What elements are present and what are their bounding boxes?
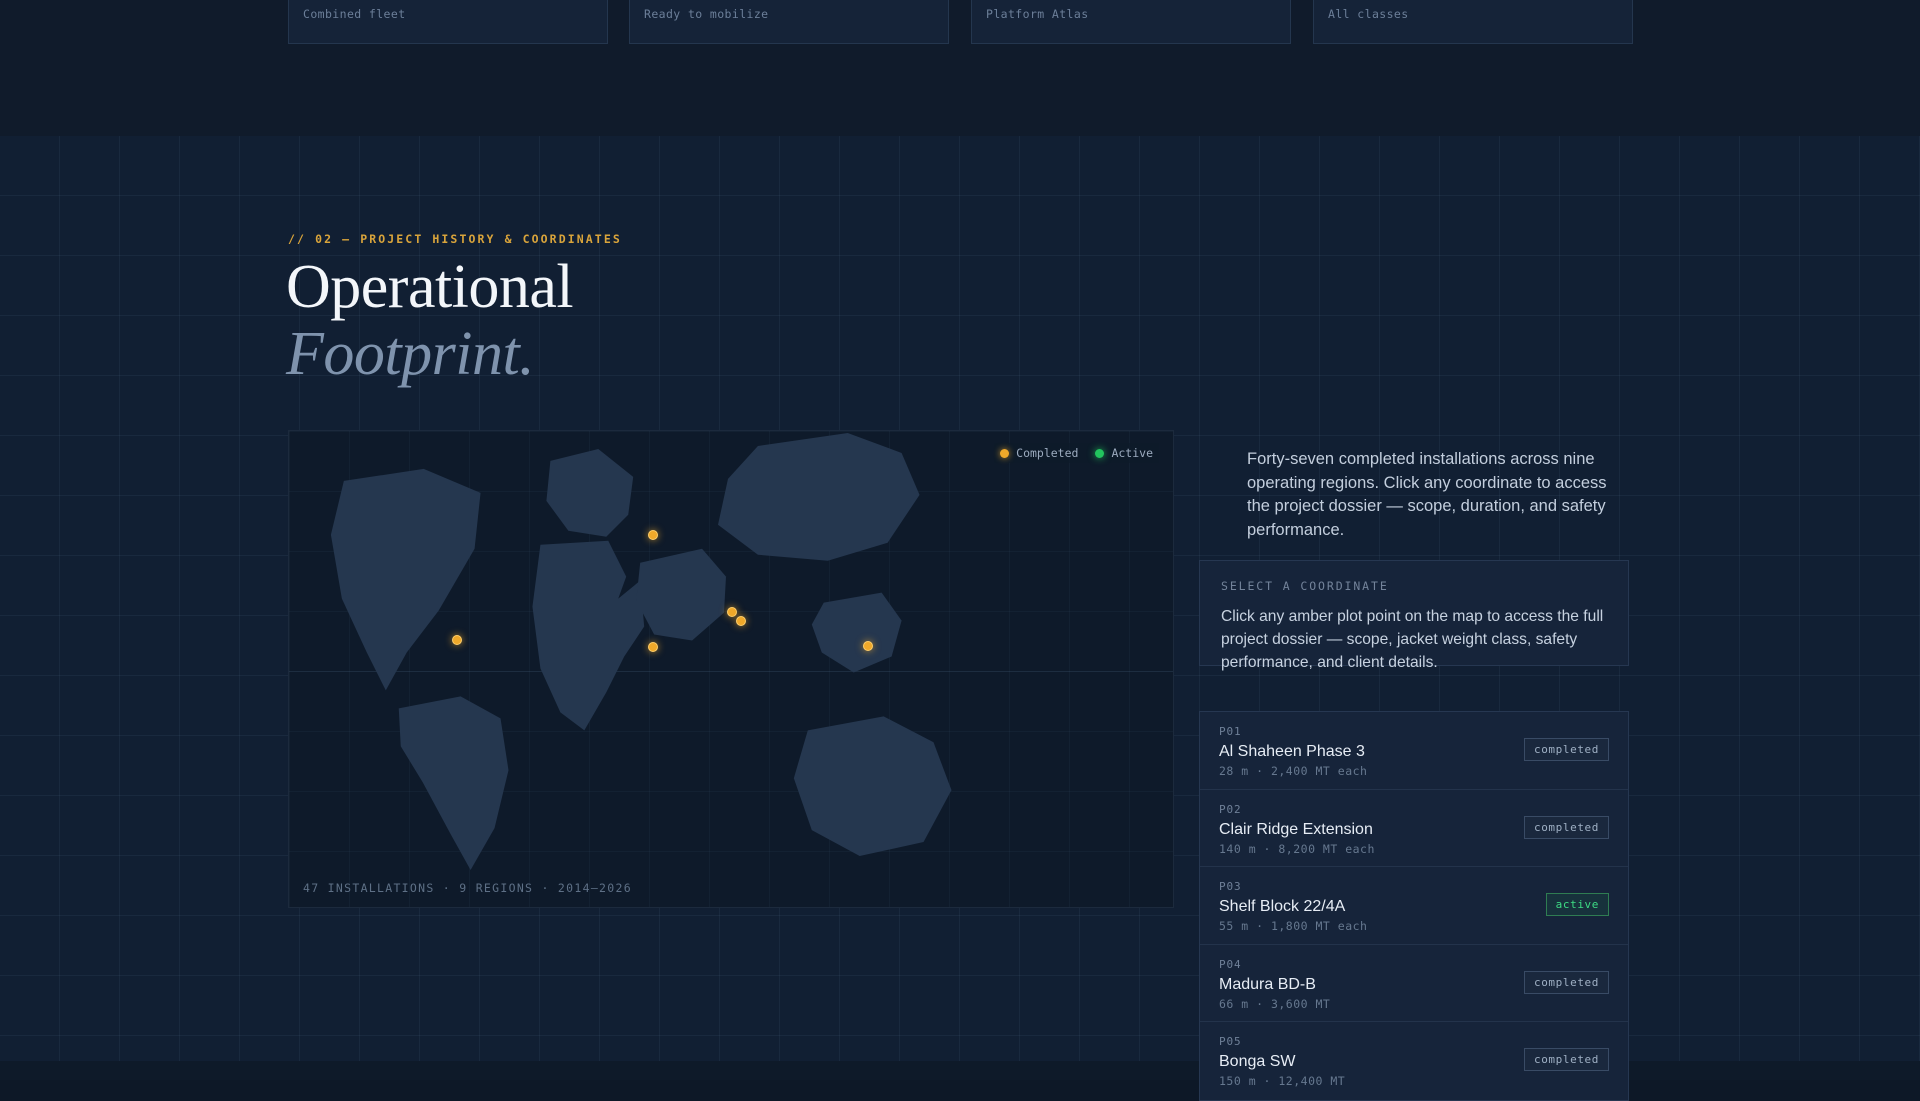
project-code: P01 xyxy=(1219,725,1609,738)
list-item[interactable]: P02 Clair Ridge Extension 140 m · 8,200 … xyxy=(1200,790,1628,868)
map-landmasses xyxy=(289,431,1173,908)
legend-label-active: Active xyxy=(1111,446,1153,460)
section-intro-text: Forty-seven completed installations acro… xyxy=(1247,448,1629,542)
stat-card[interactable]: Ready to mobilize xyxy=(629,0,949,44)
operations-map[interactable]: Completed Active 47 INSTALLATIONS · 9 RE… xyxy=(288,430,1174,908)
headline-line-1: Operational xyxy=(286,253,573,321)
stat-card[interactable]: All classes xyxy=(1313,0,1633,44)
stat-card[interactable]: Combined fleet xyxy=(288,0,608,44)
project-code: P03 xyxy=(1219,880,1609,893)
status-badge: completed xyxy=(1524,816,1609,839)
project-meta: 140 m · 8,200 MT each xyxy=(1219,842,1609,856)
page-title: Operational Footprint. xyxy=(286,254,573,388)
map-plot-point[interactable] xyxy=(648,530,658,540)
legend-item-active: Active xyxy=(1095,446,1153,460)
stat-card-subtitle: Combined fleet xyxy=(303,7,406,21)
project-meta: 150 m · 12,400 MT xyxy=(1219,1074,1609,1088)
stat-card[interactable]: Platform Atlas xyxy=(971,0,1291,44)
section-eyebrow: // 02 — PROJECT HISTORY & COORDINATES xyxy=(288,232,622,246)
list-item[interactable]: P01 Al Shaheen Phase 3 28 m · 2,400 MT e… xyxy=(1200,712,1628,790)
map-plot-point[interactable] xyxy=(648,642,658,652)
select-coordinate-kicker: SELECT A COORDINATE xyxy=(1221,579,1607,593)
status-badge: completed xyxy=(1524,971,1609,994)
status-badge: completed xyxy=(1524,1048,1609,1071)
bottom-dark-band xyxy=(0,1061,1920,1080)
project-meta: 66 m · 3,600 MT xyxy=(1219,997,1609,1011)
project-code: P02 xyxy=(1219,803,1609,816)
legend-label-completed: Completed xyxy=(1016,446,1078,460)
list-item[interactable]: P05 Bonga SW 150 m · 12,400 MT completed xyxy=(1200,1022,1628,1100)
project-code: P04 xyxy=(1219,958,1609,971)
stat-card-subtitle: Platform Atlas xyxy=(986,7,1089,21)
map-plot-point[interactable] xyxy=(863,641,873,651)
select-coordinate-card: SELECT A COORDINATE Click any amber plot… xyxy=(1199,560,1629,666)
project-meta: 28 m · 2,400 MT each xyxy=(1219,764,1609,778)
map-legend: Completed Active xyxy=(994,443,1159,463)
select-coordinate-body: Click any amber plot point on the map to… xyxy=(1221,605,1607,674)
stat-cards-strip: Combined fleet Ready to mobilize Platfor… xyxy=(0,0,1920,44)
stat-card-subtitle: All classes xyxy=(1328,7,1409,21)
project-list: P01 Al Shaheen Phase 3 28 m · 2,400 MT e… xyxy=(1199,711,1629,1101)
project-code: P05 xyxy=(1219,1035,1609,1048)
status-badge: completed xyxy=(1524,738,1609,761)
status-badge: active xyxy=(1546,893,1609,916)
stat-card-subtitle: Ready to mobilize xyxy=(644,7,769,21)
headline-line-2: Footprint. xyxy=(286,321,573,388)
map-plot-point[interactable] xyxy=(727,607,737,617)
map-footer-stats: 47 INSTALLATIONS · 9 REGIONS · 2014–2026 xyxy=(303,881,632,895)
map-plot-point[interactable] xyxy=(452,635,462,645)
legend-item-completed: Completed xyxy=(1000,446,1078,460)
amber-dot-icon xyxy=(1000,449,1009,458)
map-plot-point[interactable] xyxy=(736,616,746,626)
project-meta: 55 m · 1,800 MT each xyxy=(1219,919,1609,933)
list-item[interactable]: P04 Madura BD-B 66 m · 3,600 MT complete… xyxy=(1200,945,1628,1023)
green-dot-icon xyxy=(1095,449,1104,458)
list-item[interactable]: P03 Shelf Block 22/4A 55 m · 1,800 MT ea… xyxy=(1200,867,1628,945)
